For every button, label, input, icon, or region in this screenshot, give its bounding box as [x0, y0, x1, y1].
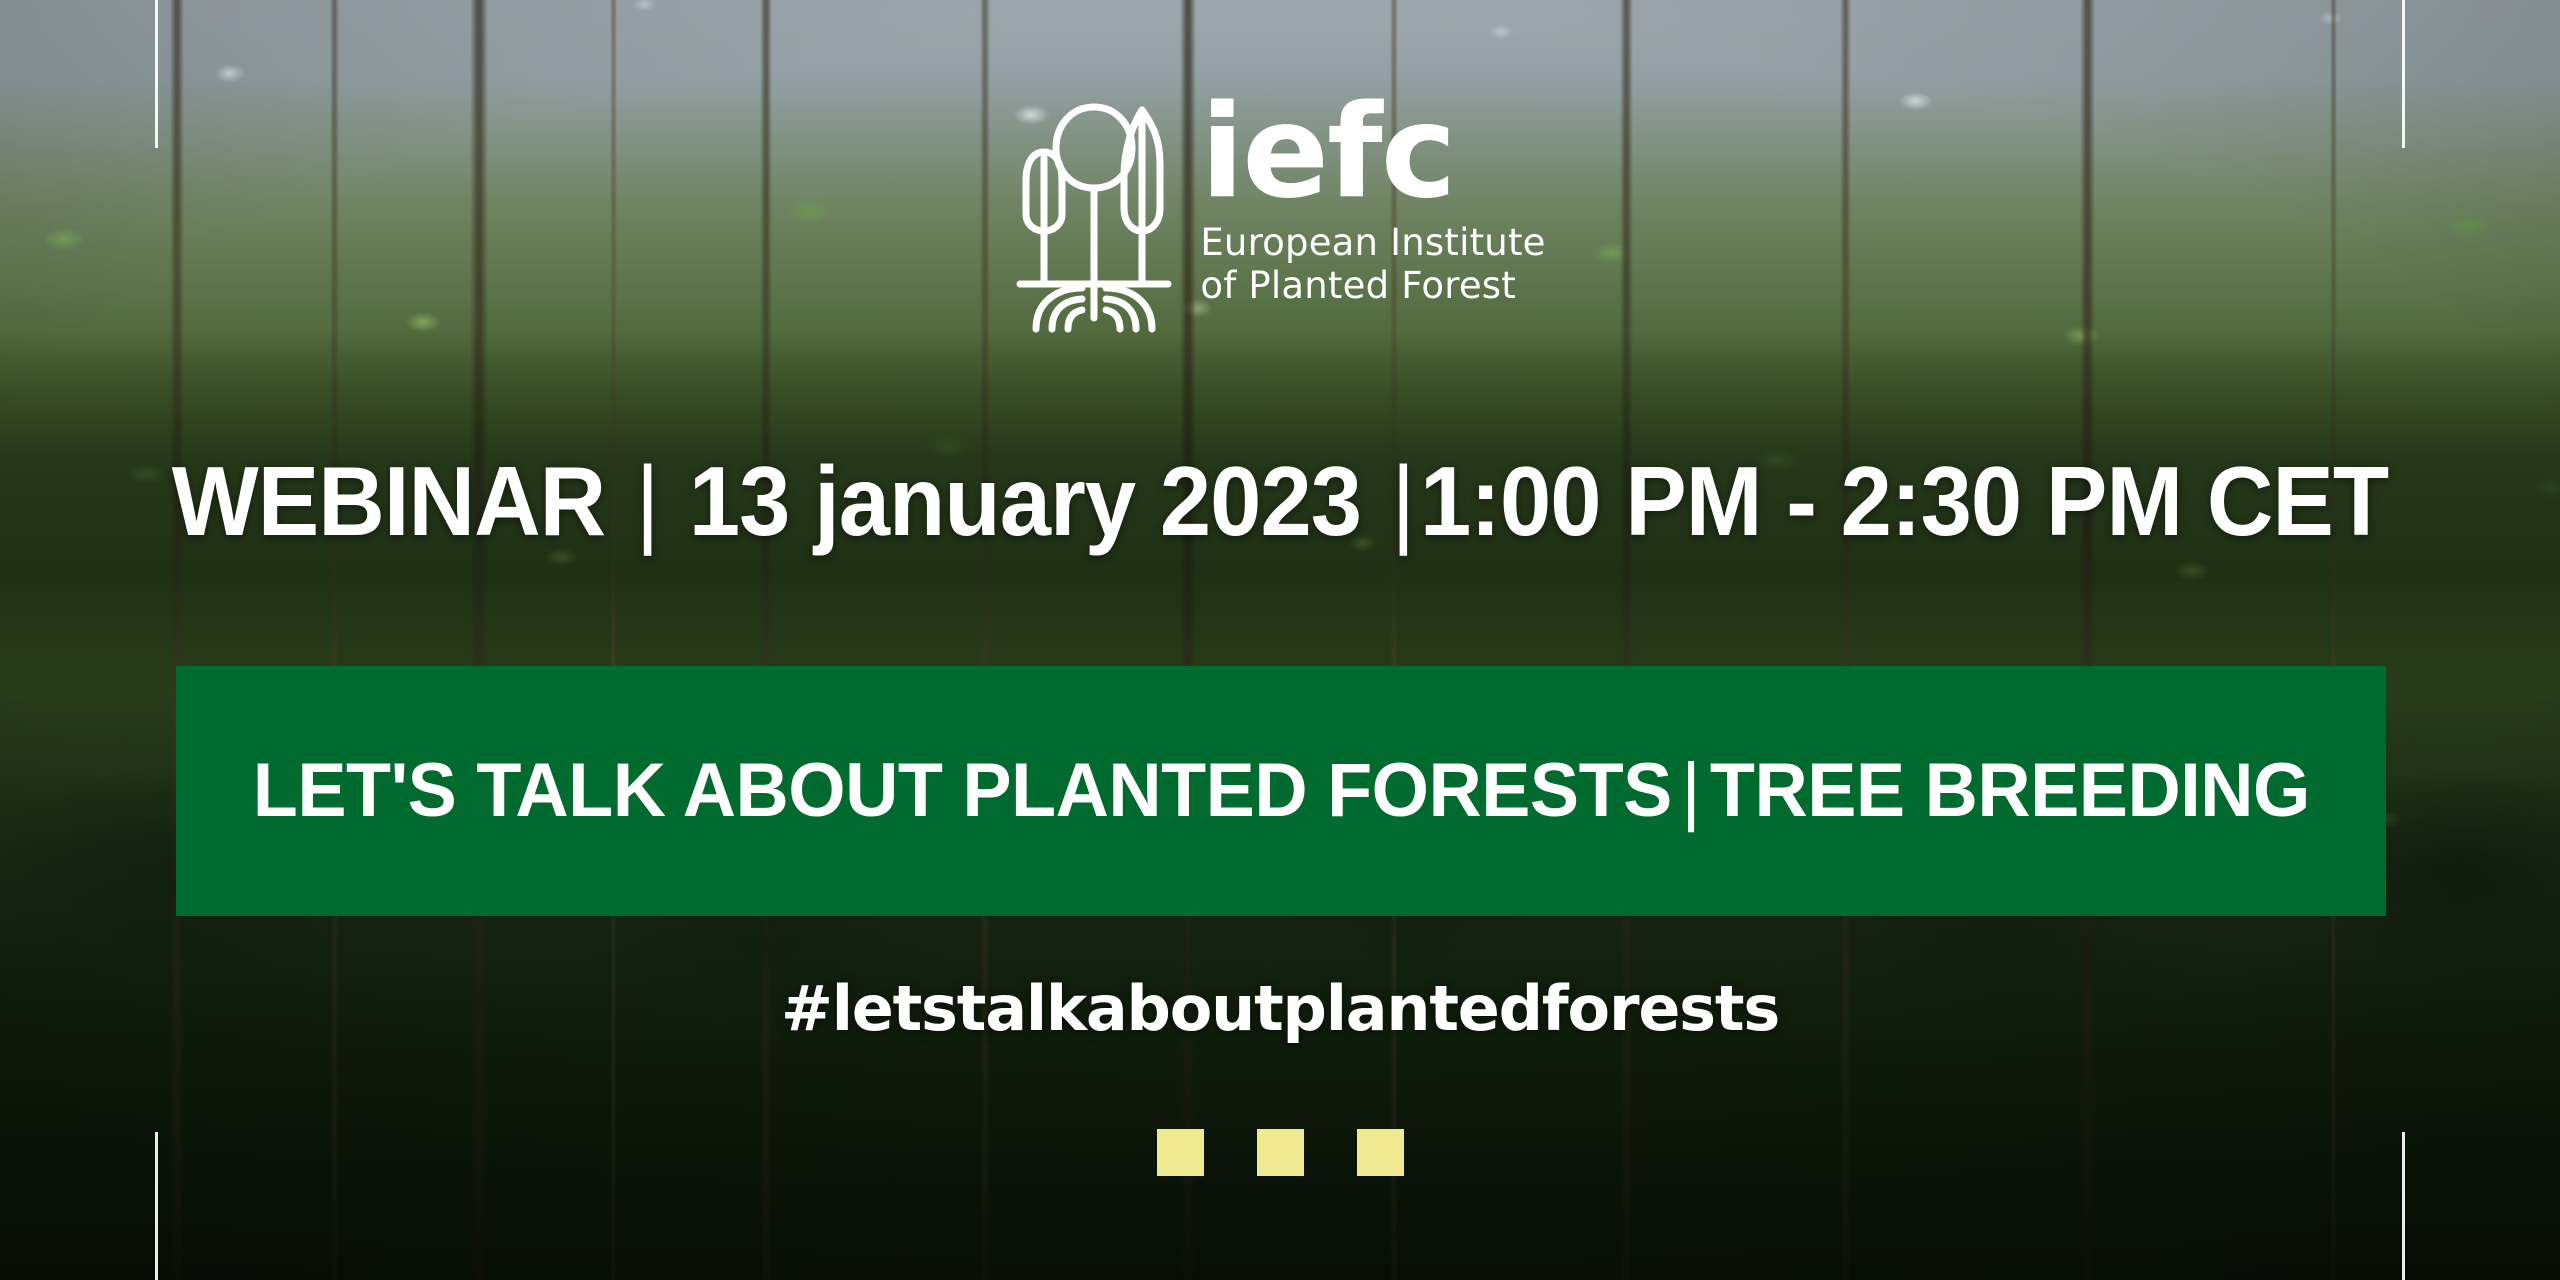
headline-label: WEBINAR — [172, 446, 606, 556]
webinar-banner: iefc European Institute of Planted Fores… — [0, 0, 2560, 1280]
brand-name: iefc — [1200, 98, 1545, 208]
iefc-tree-roots-icon — [1014, 88, 1174, 340]
logo-lockup: iefc European Institute of Planted Fores… — [0, 88, 2560, 340]
brand-tagline: European Institute of Planted Forest — [1200, 222, 1545, 308]
headline: WEBINAR | 13 january 2023 |1:00 PM - 2:3… — [77, 452, 2483, 550]
headline-separator-2: | — [1386, 446, 1420, 556]
headline-date: 13 january 2023 — [689, 446, 1361, 556]
campaign-hashtag: #letstalkaboutplantedforests — [0, 978, 2560, 1040]
band-title: LET'S TALK ABOUT PLANTED FORESTS|TREE BR… — [252, 753, 2309, 829]
decorative-squares — [0, 1129, 2560, 1176]
green-title-band: LET'S TALK ABOUT PLANTED FORESTS|TREE BR… — [176, 666, 2386, 916]
headline-separator-1: | — [630, 446, 664, 556]
band-title-right: TREE BREEDING — [1710, 748, 2310, 833]
brand-tagline-line-1: European Institute — [1200, 222, 1545, 265]
yellow-square-1 — [1157, 1129, 1204, 1176]
logo-text-block: iefc European Institute of Planted Fores… — [1200, 88, 1545, 308]
yellow-square-3 — [1357, 1129, 1404, 1176]
band-title-separator: | — [1672, 748, 1710, 833]
brand-tagline-line-2: of Planted Forest — [1200, 265, 1545, 308]
band-title-left: LET'S TALK ABOUT PLANTED FORESTS — [252, 748, 1671, 833]
yellow-square-2 — [1257, 1129, 1304, 1176]
headline-time: 1:00 PM - 2:30 PM CET — [1420, 446, 2388, 556]
